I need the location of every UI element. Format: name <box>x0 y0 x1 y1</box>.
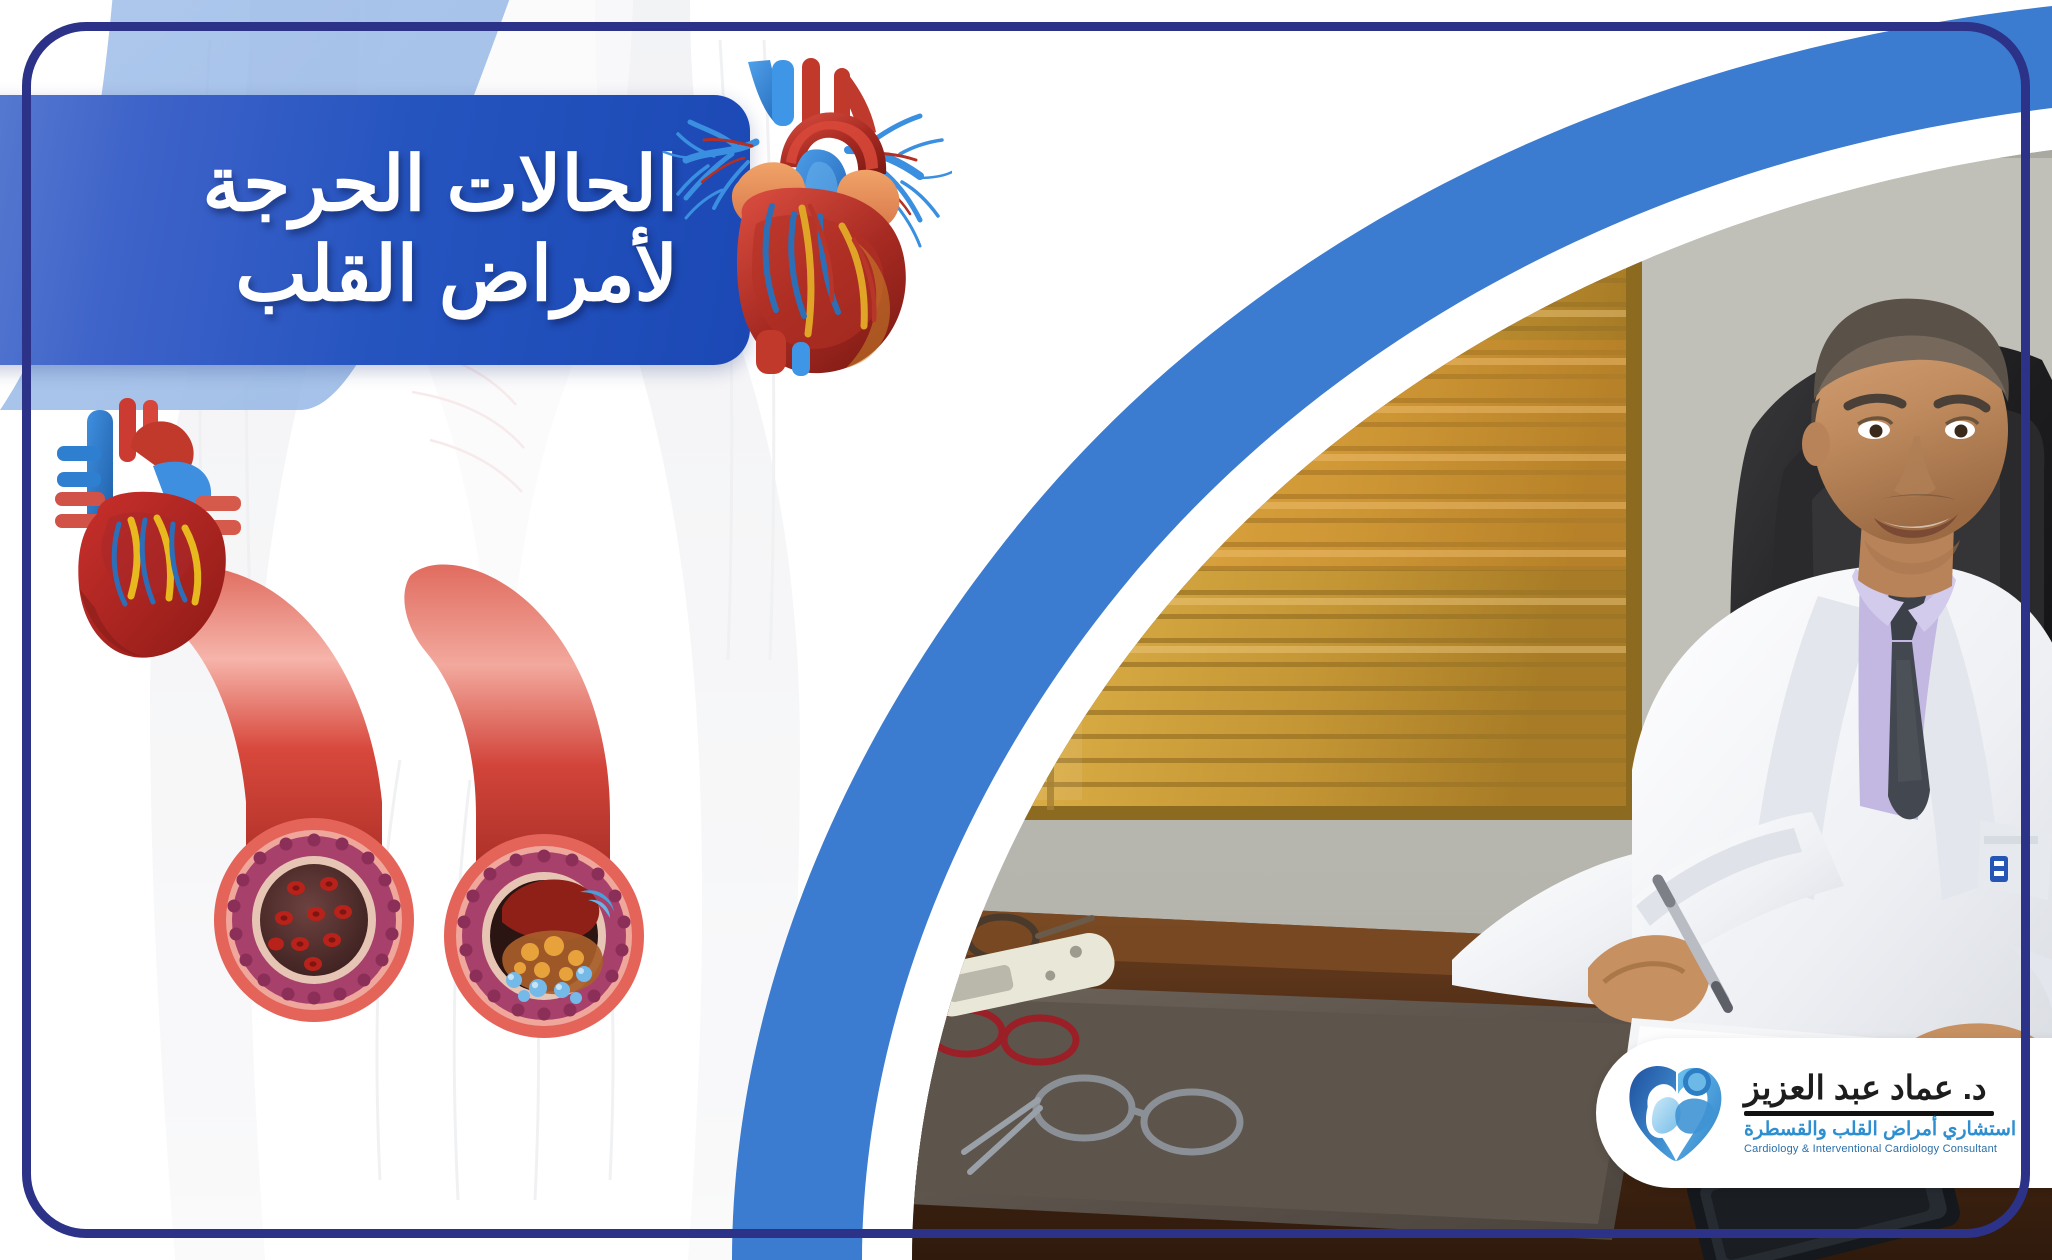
title-line-1: الحالات الحرجة <box>203 140 678 230</box>
logo-subtitle-english: Cardiology & Interventional Cardiology C… <box>1744 1143 1997 1155</box>
logo-card: د. عماد عبد العزيز استشاري أمراض القلب و… <box>1596 1038 2052 1188</box>
anatomical-heart-icon <box>35 388 285 668</box>
blocked-artery-cross-section <box>444 834 644 1038</box>
anatomical-heart-icon <box>652 58 952 378</box>
title-line-2: لأمراض القلب <box>235 230 678 320</box>
healthy-artery-cross-section <box>214 818 414 1022</box>
poster-root: الحالات الحرجة لأمراض القلب <box>0 0 2052 1260</box>
logo-divider <box>1744 1111 1994 1116</box>
logo-doctor-name: د. عماد عبد العزيز <box>1744 1071 1987 1106</box>
title-banner: الحالات الحرجة لأمراض القلب <box>0 95 750 365</box>
logo-subtitle-arabic: استشاري أمراض القلب والقسطرة <box>1744 1120 2016 1141</box>
heart-person-logo-icon <box>1626 1060 1730 1166</box>
